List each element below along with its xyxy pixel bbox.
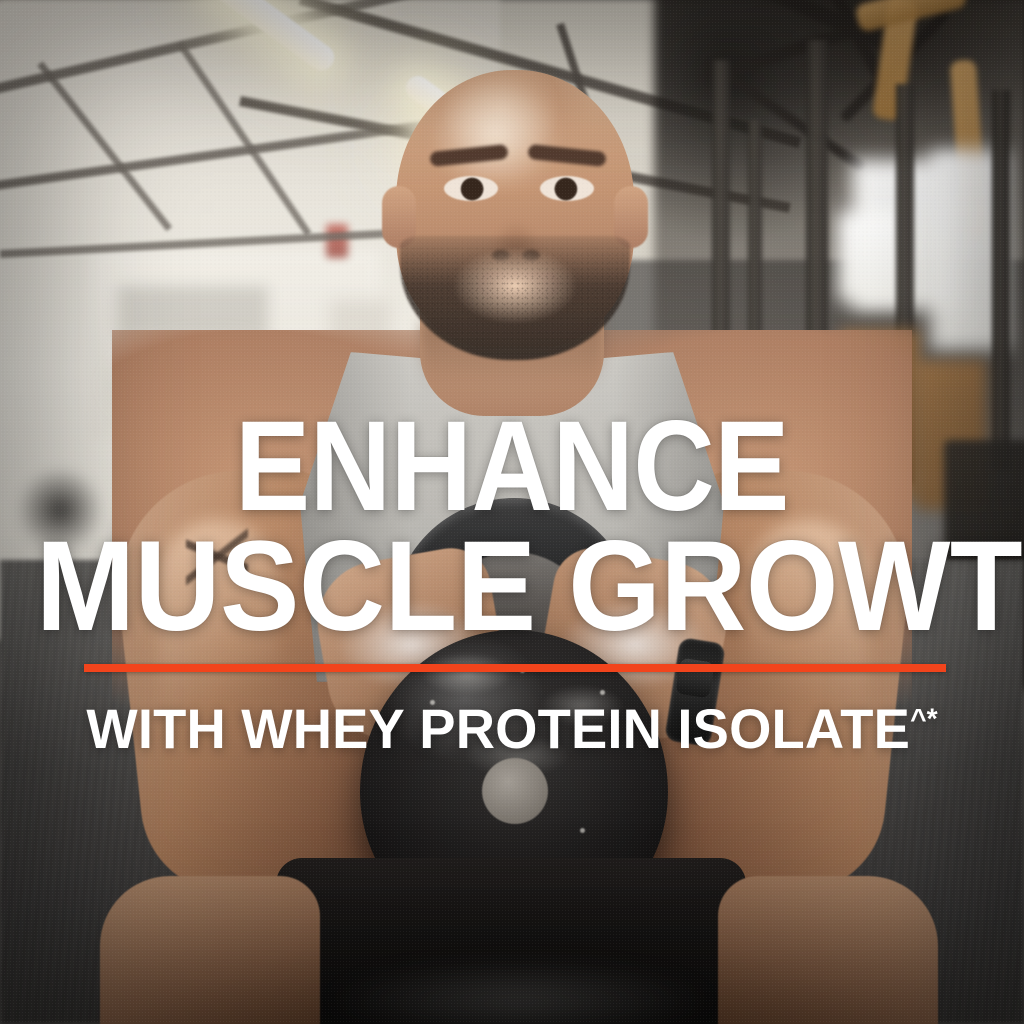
accent-divider-rule [84, 664, 946, 672]
subheadline: WITH WHEY PROTEIN ISOLATE^* [15, 696, 1008, 761]
subheadline-superscript: ^* [910, 703, 937, 735]
text-overlay: ENHANCE MUSCLE GROWTH WITH WHEY PROTEIN … [0, 0, 1024, 1024]
ad-canvas: ENHANCE MUSCLE GROWTH WITH WHEY PROTEIN … [0, 0, 1024, 1024]
headline-line-2: MUSCLE GROWTH [36, 524, 988, 649]
subheadline-text: WITH WHEY PROTEIN ISOLATE [86, 697, 910, 760]
headline-line-1: ENHANCE [61, 404, 962, 529]
